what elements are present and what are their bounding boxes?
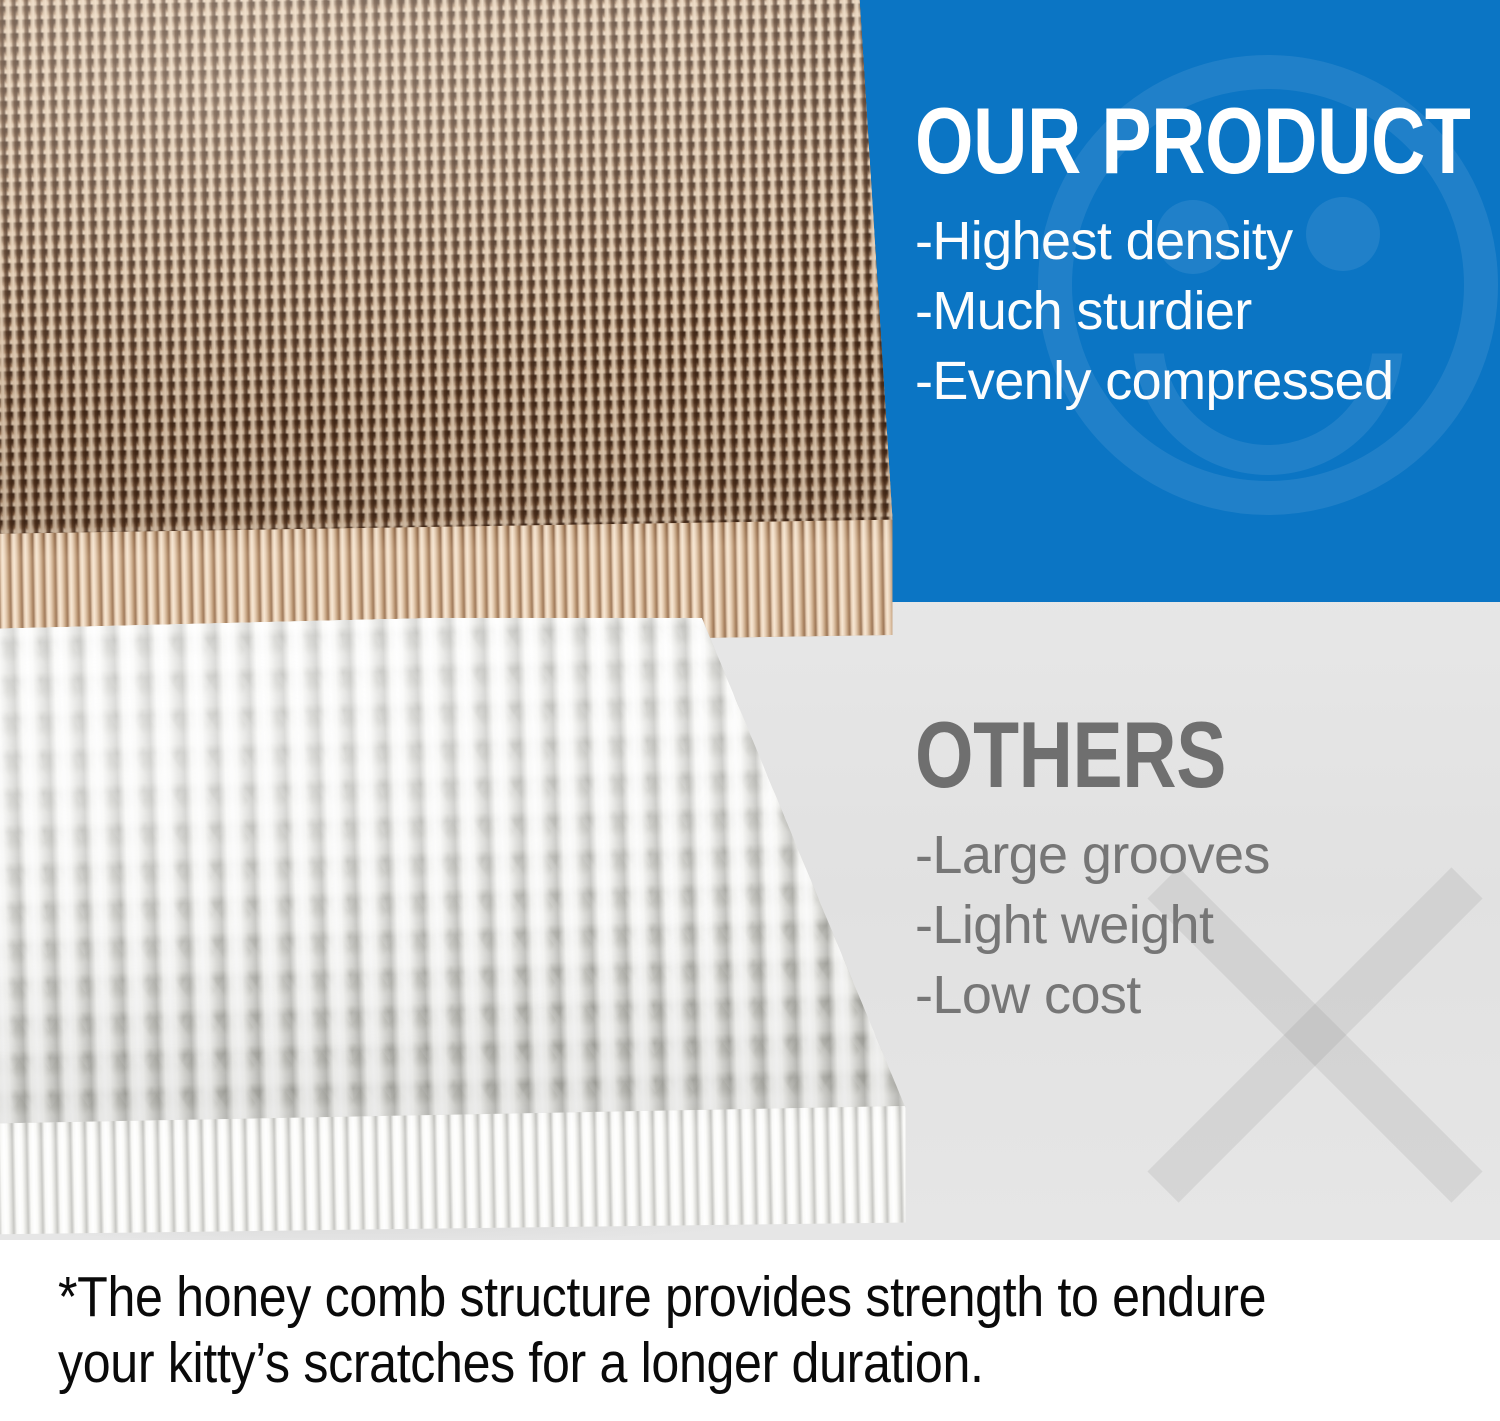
white-slab-side-edge <box>0 1106 942 1240</box>
others-bullet-1: -Large grooves <box>915 820 1304 890</box>
others-bullet-2: -Light weight <box>915 890 1304 960</box>
our-product-bullet-2: -Much sturdier <box>915 276 1500 346</box>
tan-slab-shading <box>0 0 930 565</box>
product-comparison-infographic: OUR PRODUCT -Highest density -Much sturd… <box>0 0 1500 1421</box>
others-heading: OTHERS <box>915 712 1226 798</box>
others-bullet-list: -Large grooves -Light weight -Low cost <box>915 820 1304 1030</box>
our-product-heading: OUR PRODUCT <box>915 98 1470 184</box>
footnote-area: *The honey comb structure provides stren… <box>0 1240 1500 1421</box>
our-product-bullet-1: -Highest density <box>915 206 1500 276</box>
others-text-block: OTHERS -Large grooves -Light weight -Low… <box>915 712 1304 1030</box>
comparison-image-area: OUR PRODUCT -Highest density -Much sturd… <box>0 0 1500 1240</box>
others-heading-wrap: OTHERS <box>915 712 1304 820</box>
our-product-bullet-3: -Evenly compressed <box>915 346 1500 416</box>
tan-slab-top-face <box>0 0 930 565</box>
our-product-heading-wrap: OUR PRODUCT <box>915 98 1500 206</box>
our-product-bullet-list: -Highest density -Much sturdier -Evenly … <box>915 206 1500 416</box>
tan-honeycomb-cardboard-slab <box>0 0 900 670</box>
others-bullet-3: -Low cost <box>915 960 1304 1030</box>
footnote-text: *The honey comb structure provides stren… <box>58 1264 1290 1396</box>
our-product-text-block: OUR PRODUCT -Highest density -Much sturd… <box>915 98 1500 416</box>
